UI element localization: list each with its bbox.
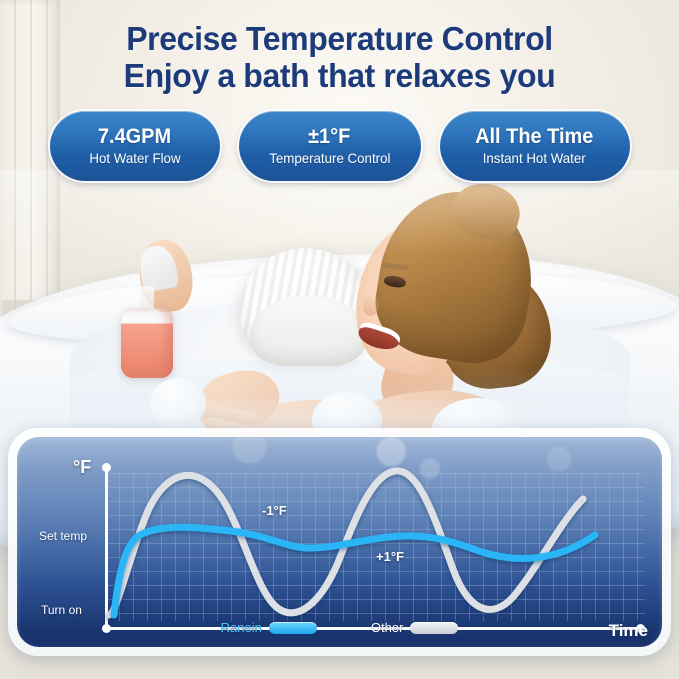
legend-item-other[interactable]: Other bbox=[371, 620, 459, 635]
badge-subtitle: Temperature Control bbox=[269, 149, 390, 167]
badge-title: All The Time bbox=[475, 125, 593, 149]
badge-hot-water-flow[interactable]: 7.4GPM Hot Water Flow bbox=[50, 111, 220, 181]
promo-banner: Precise Temperature Control Enjoy a bath… bbox=[0, 0, 679, 679]
folded-towel-lower bbox=[250, 296, 366, 366]
legend-label-ranein: Ranein bbox=[221, 620, 262, 635]
legend-swatch-ranein bbox=[269, 622, 317, 634]
legend-item-ranein[interactable]: Ranein bbox=[221, 620, 317, 635]
temperature-chart-frame: °F Set temp Turn on Time Ranein bbox=[8, 428, 671, 656]
annotation-minus-1f: -1°F bbox=[262, 503, 287, 518]
headline: Precise Temperature Control Enjoy a bath… bbox=[0, 20, 679, 94]
badge-subtitle: Instant Hot Water bbox=[483, 149, 586, 167]
headline-line-1: Precise Temperature Control bbox=[10, 20, 669, 57]
soap-bottle bbox=[121, 308, 173, 378]
chart-curves bbox=[17, 437, 662, 647]
badge-title: ±1°F bbox=[308, 125, 350, 149]
chart-legend: Ranein Other bbox=[17, 620, 662, 635]
series-ranein-line bbox=[114, 527, 595, 615]
badge-subtitle: Hot Water Flow bbox=[89, 149, 180, 167]
badge-all-the-time[interactable]: All The Time Instant Hot Water bbox=[440, 111, 630, 181]
feature-badge-row: 7.4GPM Hot Water Flow ±1°F Temperature C… bbox=[0, 111, 679, 183]
badge-title: 7.4GPM bbox=[98, 125, 171, 149]
annotation-plus-1f: +1°F bbox=[376, 549, 404, 564]
legend-swatch-other bbox=[410, 622, 458, 634]
headline-line-2: Enjoy a bath that relaxes you bbox=[10, 57, 669, 94]
temperature-chart: °F Set temp Turn on Time Ranein bbox=[17, 437, 662, 647]
bubble-cluster bbox=[150, 378, 206, 428]
legend-label-other: Other bbox=[371, 620, 404, 635]
badge-temperature-control[interactable]: ±1°F Temperature Control bbox=[239, 111, 421, 181]
